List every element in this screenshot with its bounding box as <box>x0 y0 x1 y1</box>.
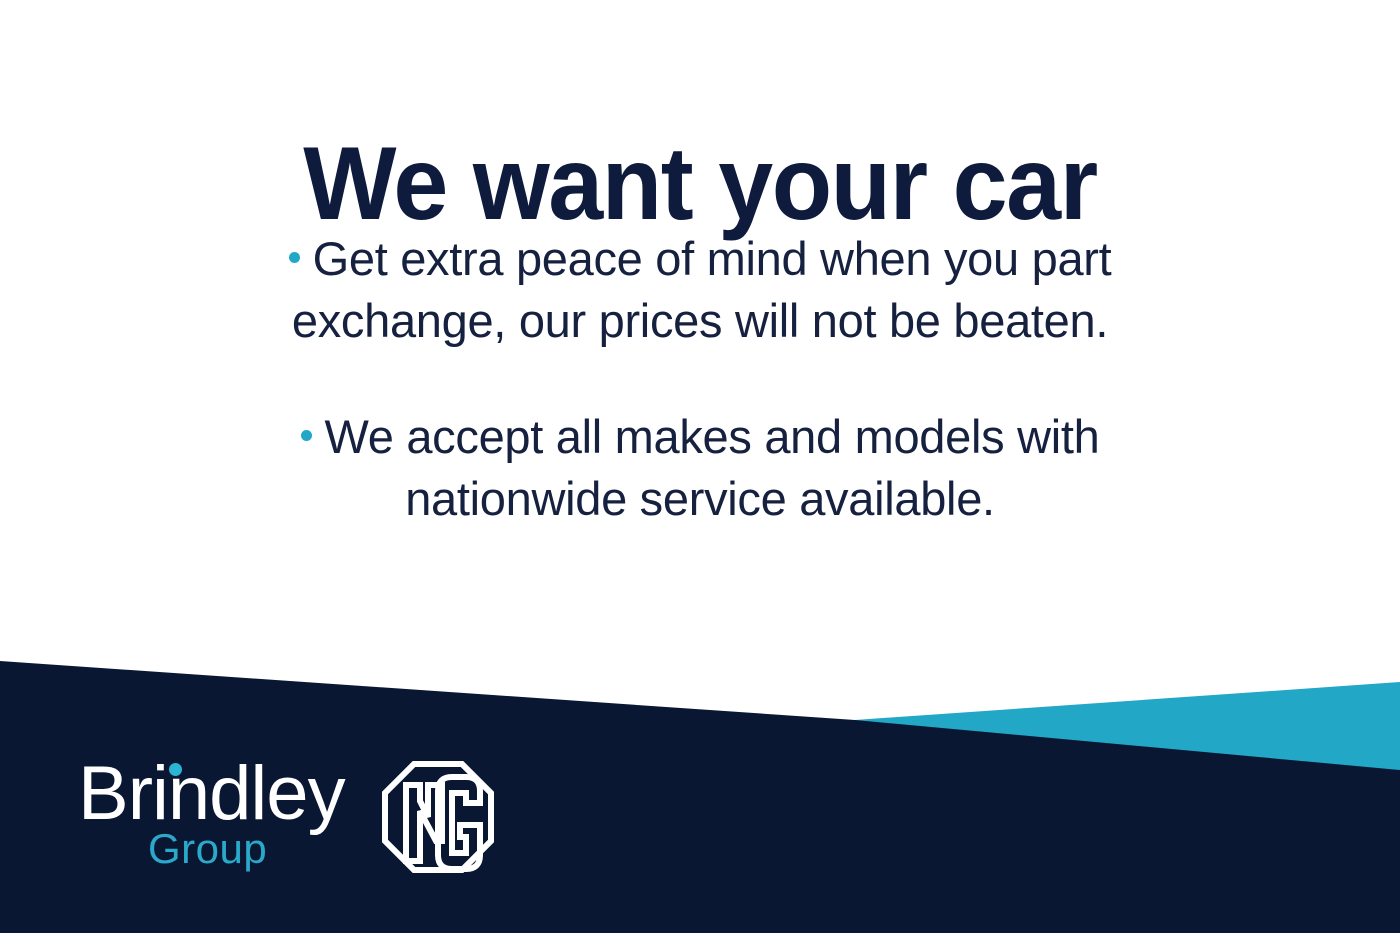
list-item-text: Get extra peace of mind when you part ex… <box>292 232 1112 347</box>
page-title: We want your car <box>35 132 1365 236</box>
bullet-list: Get extra peace of mind when you part ex… <box>0 228 1400 529</box>
brindley-dot-icon <box>169 763 182 776</box>
logo-row: Brindley Group <box>78 752 500 882</box>
brindley-wordmark: Brindley <box>78 756 345 832</box>
brindley-group-logo: Brindley Group <box>78 756 336 878</box>
list-item: Get extra peace of mind when you part ex… <box>195 228 1205 351</box>
list-item-text: We accept all makes and models with nati… <box>325 410 1100 525</box>
bullet-dot-icon <box>301 430 312 441</box>
brindley-subtitle: Group <box>148 828 267 870</box>
mg-brand-logo <box>376 755 500 879</box>
promo-slide: We want your car Get extra peace of mind… <box>0 0 1400 933</box>
bullet-dot-icon <box>289 252 300 263</box>
list-item: We accept all makes and models with nati… <box>195 406 1205 529</box>
